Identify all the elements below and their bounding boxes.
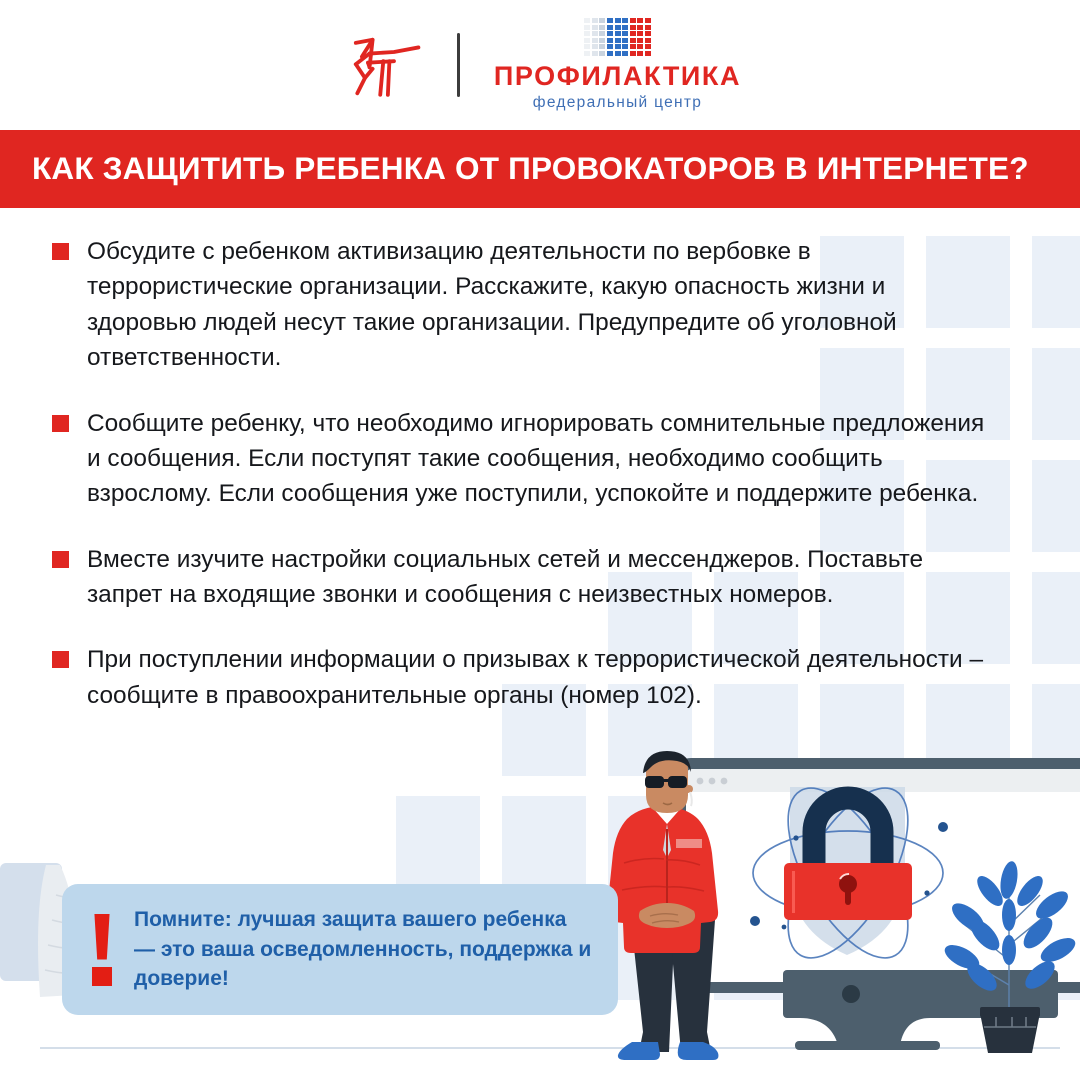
bullet-square-icon	[52, 651, 69, 668]
list-item-text: Сообщите ребенку, что необходимо игнорир…	[87, 406, 992, 512]
flag-grid-cell	[599, 51, 605, 56]
flag-grid-cell	[622, 25, 628, 30]
flag-grid-cell	[584, 38, 590, 43]
flag-grid-cell	[584, 18, 590, 23]
flag-grid-cell	[607, 51, 613, 56]
flag-grid-cell	[622, 38, 628, 43]
flag-grid-cell	[645, 18, 651, 23]
shoe-right	[678, 1042, 719, 1060]
plant-pot	[980, 1013, 1040, 1053]
list-item-text: Обсудите с ребенком активизацию деятельн…	[87, 234, 992, 376]
browser-window-dots-icon	[697, 778, 728, 785]
flag-grid-cell	[607, 25, 613, 30]
flag-grid-cell	[622, 31, 628, 36]
flag-grid-cell	[615, 25, 621, 30]
bullet-square-icon	[52, 551, 69, 568]
flag-grid-cell	[637, 25, 643, 30]
brand-subtitle: федеральный центр	[533, 94, 702, 112]
flag-grid-cell	[592, 38, 598, 43]
brand-block: ПРОФИЛАКТИКА федеральный центр	[494, 18, 741, 112]
bullet-square-icon	[52, 243, 69, 260]
flag-grid-cell	[584, 51, 590, 56]
flag-grid-cell	[599, 18, 605, 23]
flag-grid-cell	[615, 38, 621, 43]
exclamation-dot	[92, 967, 112, 986]
flag-grid-cell	[615, 44, 621, 49]
list-item-text: Вместе изучите настройки социальных сете…	[87, 542, 992, 613]
flag-grid-cell	[637, 44, 643, 49]
flag-grid-cell	[637, 31, 643, 36]
flag-grid-cell	[630, 51, 636, 56]
callout-text: Помните: лучшая защита вашего ребенка — …	[134, 905, 592, 994]
title-banner: КАК ЗАЩИТИТЬ РЕБЕНКА ОТ ПРОВОКАТОРОВ В И…	[0, 130, 1080, 208]
poster: ПРОФИЛАКТИКА федеральный центр КАК ЗАЩИТ…	[0, 0, 1080, 1080]
flag-grid-cell	[645, 25, 651, 30]
flag-grid-cell	[645, 38, 651, 43]
flag-grid-cell	[599, 44, 605, 49]
pixel-flag-grid-icon	[584, 18, 651, 56]
flag-grid-cell	[592, 51, 598, 56]
flag-grid-cell	[630, 25, 636, 30]
flag-grid-cell	[607, 38, 613, 43]
flag-grid-cell	[607, 18, 613, 23]
flag-grid-cell	[630, 31, 636, 36]
flag-grid-cell	[645, 44, 651, 49]
flag-grid-cell	[607, 44, 613, 49]
list-item: Обсудите с ребенком активизацию деятельн…	[52, 234, 1038, 376]
flag-grid-cell	[592, 44, 598, 49]
flag-grid-cell	[637, 51, 643, 56]
shoe-left	[618, 1042, 660, 1060]
flag-grid-cell	[584, 44, 590, 49]
flag-grid-cell	[630, 44, 636, 49]
brand-name: ПРОФИЛАКТИКА	[494, 63, 741, 90]
flag-grid-cell	[615, 51, 621, 56]
flag-grid-cell	[645, 31, 651, 36]
flag-grid-cell	[622, 18, 628, 23]
callout-box: Помните: лучшая защита вашего ребенка — …	[62, 884, 618, 1015]
flag-grid-cell	[599, 31, 605, 36]
flag-grid-cell	[584, 31, 590, 36]
flag-grid-cell	[592, 31, 598, 36]
bullet-list: Обсудите с ребенком активизацию деятельн…	[0, 208, 1080, 713]
flag-grid-cell	[599, 25, 605, 30]
exclamation-bar	[92, 914, 112, 960]
logo-divider	[457, 33, 460, 97]
flag-grid-cell	[645, 51, 651, 56]
flag-grid-cell	[584, 25, 590, 30]
flag-grid-cell	[622, 51, 628, 56]
jacket-badge	[676, 839, 702, 848]
list-item: При поступлении информации о призывах к …	[52, 642, 1038, 713]
list-item: Сообщите ребенку, что необходимо игнорир…	[52, 406, 1038, 512]
exclamation-mark-icon	[92, 914, 112, 986]
flag-grid-cell	[637, 18, 643, 23]
flag-grid-cell	[599, 38, 605, 43]
flag-grid-cell	[592, 25, 598, 30]
flag-grid-cell	[622, 44, 628, 49]
logo-bar: ПРОФИЛАКТИКА федеральный центр	[0, 0, 1080, 130]
bullet-square-icon	[52, 415, 69, 432]
list-item-text: При поступлении информации о призывах к …	[87, 642, 992, 713]
flag-grid-cell	[630, 38, 636, 43]
flag-grid-cell	[637, 38, 643, 43]
flag-grid-cell	[607, 31, 613, 36]
flag-grid-cell	[630, 18, 636, 23]
flag-grid-cell	[615, 18, 621, 23]
flag-grid-cell	[592, 18, 598, 23]
red-line-animal-mark-icon	[339, 30, 423, 100]
page-title: КАК ЗАЩИТИТЬ РЕБЕНКА ОТ ПРОВОКАТОРОВ В И…	[32, 153, 1029, 185]
flag-grid-cell	[615, 31, 621, 36]
list-item: Вместе изучите настройки социальных сете…	[52, 542, 1038, 613]
